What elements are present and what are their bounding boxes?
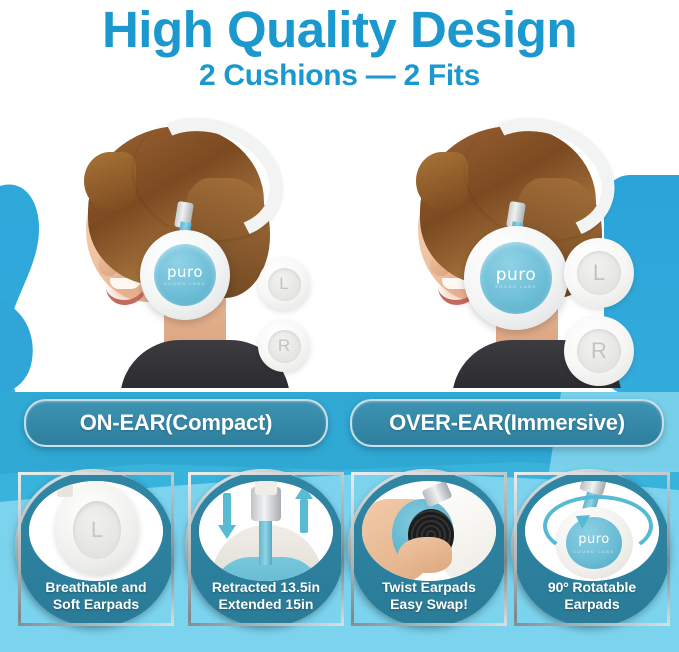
earcup-on-ear: puro SOUND LABS (140, 230, 230, 320)
headband-top (255, 481, 277, 495)
feature-image-earpad-closeup: L (29, 481, 163, 581)
feature-image-rotation: puro SOUND LABS (525, 481, 659, 581)
feature-caption-4: 90º Rotatable Earpads (521, 579, 663, 613)
cushion-marking: L (279, 274, 288, 294)
label-over-ear: OVER-EAR(Immersive) (350, 399, 664, 447)
brand-logo: puro (496, 268, 537, 282)
earpad-inner: L (73, 501, 121, 559)
cushion-marking: R (278, 336, 290, 356)
feature-caption-1: Breathable and Soft Earpads (25, 579, 167, 613)
feature-caption-4-line2: Earpads (521, 596, 663, 613)
feature-caption-3-line1: Twist Earpads (358, 579, 500, 596)
label-on-ear-text: ON-EAR(Compact) (80, 410, 273, 436)
feature-caption-1-line1: Breathable and (25, 579, 167, 596)
brand-tagline: SOUND LABS (495, 284, 537, 289)
thumb (398, 537, 452, 573)
brand-tagline: SOUND LABS (164, 281, 206, 286)
page-subtitle: 2 Cushions — 2 Fits (0, 58, 679, 94)
child-head-left: puro SOUND LABS (72, 126, 262, 362)
feature-caption-3: Twist Earpads Easy Swap! (358, 579, 500, 613)
cushion-right-small: R (258, 320, 310, 372)
arrow-up-shaft (300, 499, 308, 533)
cushion-inner: R (577, 329, 621, 373)
cushion-inner: L (268, 268, 301, 301)
model-photo-on-ear: puro SOUND LABS L R (20, 96, 330, 388)
hair-fringe (84, 152, 136, 210)
cushion-right-large: R (564, 316, 634, 386)
cushion-inner: R (268, 330, 301, 363)
feature-image-headband-extension (199, 481, 333, 581)
feature-card-breathable-soft-earpads: L Breathable and Soft Earpads (18, 472, 174, 626)
earpad-tab (57, 481, 73, 497)
cushion-marking: R (591, 338, 607, 364)
earcup-disc: puro SOUND LABS (480, 242, 552, 314)
feature-card-rotatable-earpads: puro SOUND LABS 90º Rotatable Earpads (514, 472, 670, 626)
cushion-marking: L (593, 260, 605, 286)
brand-logo: puro (167, 265, 203, 279)
earpad-marking: L (91, 517, 103, 543)
label-over-ear-text: OVER-EAR(Immersive) (389, 410, 625, 436)
feature-card-adjustable-headband: Retracted 13.5in Extended 15in (188, 472, 344, 626)
feature-card-twist-earpads: Twist Earpads Easy Swap! (351, 472, 507, 626)
cushion-inner: L (577, 251, 621, 295)
product-infographic: High Quality Design 2 Cushions — 2 Fits (0, 0, 679, 652)
model-photo-over-ear: puro SOUND LABS L R (352, 96, 662, 388)
feature-caption-2: Retracted 13.5in Extended 15in (195, 579, 337, 613)
arrow-down-icon (218, 525, 236, 539)
arrow-down-shaft (223, 493, 231, 527)
feature-caption-2-line1: Retracted 13.5in (195, 579, 337, 596)
cushion-left-large: L (564, 238, 634, 308)
earcup-over-ear: puro SOUND LABS (464, 226, 568, 330)
earcup-disc: puro SOUND LABS (154, 244, 216, 306)
hair-fringe (416, 152, 468, 210)
feature-caption-3-line2: Easy Swap! (358, 596, 500, 613)
feature-image-hand-twisting-earcup (362, 481, 496, 581)
slider-stem (259, 519, 272, 565)
label-on-ear: ON-EAR(Compact) (24, 399, 328, 447)
feature-caption-1-line2: Soft Earpads (25, 596, 167, 613)
child-head-right: puro SOUND LABS (404, 126, 594, 362)
rotation-arrow-icon (543, 495, 653, 557)
cushion-left-small: L (258, 258, 310, 310)
arrow-up-icon (295, 485, 313, 499)
feature-caption-2-line2: Extended 15in (195, 596, 337, 613)
page-title: High Quality Design (0, 2, 679, 58)
feature-caption-4-line1: 90º Rotatable (521, 579, 663, 596)
